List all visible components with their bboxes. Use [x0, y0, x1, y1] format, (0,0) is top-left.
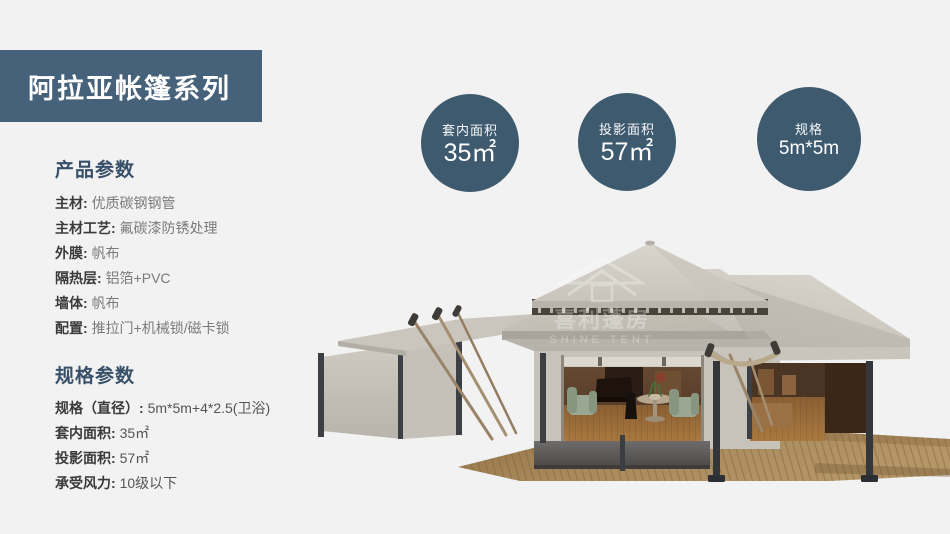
- spec-key: 规格（直径）:: [55, 400, 144, 416]
- spec-key: 承受风力:: [55, 475, 116, 491]
- stat-circle-interior-area: 套内面积 35㎡: [421, 94, 519, 192]
- spec-key: 墙体:: [55, 295, 88, 311]
- title-banner: 阿拉亚帐篷系列: [0, 50, 262, 122]
- spec-value: 35㎡: [120, 425, 150, 441]
- spec-value: 5m*5m+4*2.5(卫浴): [148, 400, 271, 416]
- wall-post: [398, 347, 403, 439]
- page-root: 阿拉亚帐篷系列 产品参数 主材: 优质碳钢钢管 主材工艺: 氟碳漆防锈处理 外膜…: [0, 0, 950, 534]
- spec-value: 铝箔+PVC: [106, 270, 171, 286]
- watermark-text: 喜利蓬房: [554, 307, 650, 332]
- stat-label: 套内面积: [442, 120, 498, 139]
- stat-circle-projected-area: 投影面积 57㎡: [578, 93, 676, 191]
- stat-value: 5m*5m: [779, 139, 839, 159]
- spec-value: 帆布: [92, 295, 120, 311]
- spec-value: 优质碳钢钢管: [92, 195, 176, 211]
- stat-value: 35㎡: [444, 140, 497, 166]
- window-header: [563, 357, 703, 366]
- spec-key: 套内面积:: [55, 425, 116, 441]
- stat-label: 投影面积: [599, 119, 655, 138]
- spec-value: 推拉门+机械锁/磁卡锁: [92, 320, 230, 336]
- stat-label: 规格: [795, 119, 823, 138]
- page-title: 阿拉亚帐篷系列: [28, 67, 231, 106]
- spec-value: 10级以下: [120, 475, 178, 491]
- tent-render-svg: 喜利蓬房 SHINE TENT: [310, 235, 950, 495]
- spec-key: 主材工艺:: [55, 220, 116, 236]
- spec-key: 投影面积:: [55, 450, 116, 466]
- spec-value: 57㎡: [120, 450, 150, 466]
- front-facade: [534, 351, 870, 449]
- spec-value: 帆布: [92, 245, 120, 261]
- tent-illustration: 喜利蓬房 SHINE TENT: [310, 235, 950, 495]
- product-parameters-heading: 产品参数: [55, 155, 355, 182]
- spec-value: 氟碳漆防锈处理: [120, 220, 218, 236]
- spec-key: 配置:: [55, 320, 88, 336]
- spec-key: 外膜:: [55, 245, 88, 261]
- spec-key: 主材:: [55, 195, 88, 211]
- stat-circle-dimensions: 规格 5m*5m: [757, 87, 861, 191]
- watermark-subtext: SHINE TENT: [549, 334, 654, 346]
- wall-post: [318, 353, 324, 437]
- spec-key: 隔热层:: [55, 270, 102, 286]
- spec-row: 主材: 优质碳钢钢管: [55, 191, 355, 216]
- stat-value: 57㎡: [601, 139, 654, 165]
